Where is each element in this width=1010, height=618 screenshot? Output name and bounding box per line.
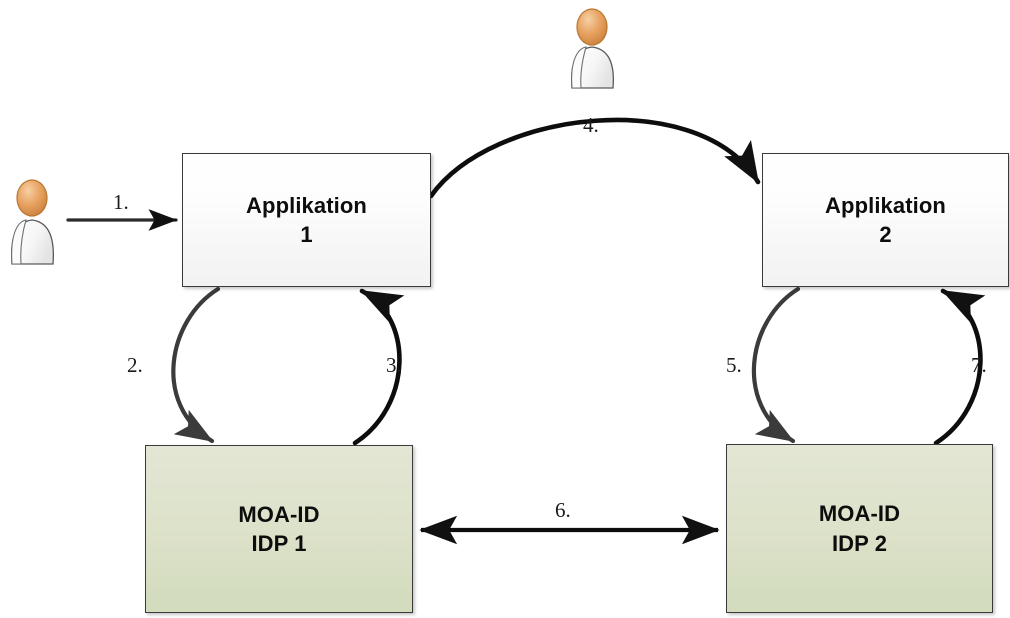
node-moa-id-idp-2-line2: IDP 2	[832, 529, 887, 558]
node-applikation-1-line1: Applikation	[246, 191, 367, 220]
diagram-canvas: Applikation 1 Applikation 2 MOA-ID IDP 1…	[0, 0, 1010, 618]
edge-2-app1-to-idp1	[173, 289, 218, 441]
edge-5-app2-to-idp2	[754, 289, 798, 441]
edge-label-5: 5.	[726, 353, 742, 378]
node-applikation-1[interactable]: Applikation 1	[182, 153, 431, 287]
node-applikation-2[interactable]: Applikation 2	[762, 153, 1009, 287]
node-moa-id-idp-1-line1: MOA-ID	[238, 500, 319, 529]
edge-label-3: 3.	[386, 353, 402, 378]
edge-label-4: 4.	[583, 113, 599, 138]
node-moa-id-idp-1-line2: IDP 1	[251, 529, 306, 558]
node-applikation-1-line2: 1	[300, 220, 312, 249]
user-actor-left-icon	[4, 172, 60, 266]
node-applikation-2-line2: 2	[879, 220, 891, 249]
edge-label-1: 1.	[113, 190, 129, 215]
edge-label-2: 2.	[127, 353, 143, 378]
edge-label-6: 6.	[555, 498, 571, 523]
node-applikation-2-line1: Applikation	[825, 191, 946, 220]
user-actor-top-icon	[562, 4, 622, 90]
edge-label-7: 7.	[971, 353, 987, 378]
node-moa-id-idp-2-line1: MOA-ID	[819, 499, 900, 528]
node-moa-id-idp-2[interactable]: MOA-ID IDP 2	[726, 444, 993, 613]
node-moa-id-idp-1[interactable]: MOA-ID IDP 1	[145, 445, 413, 613]
